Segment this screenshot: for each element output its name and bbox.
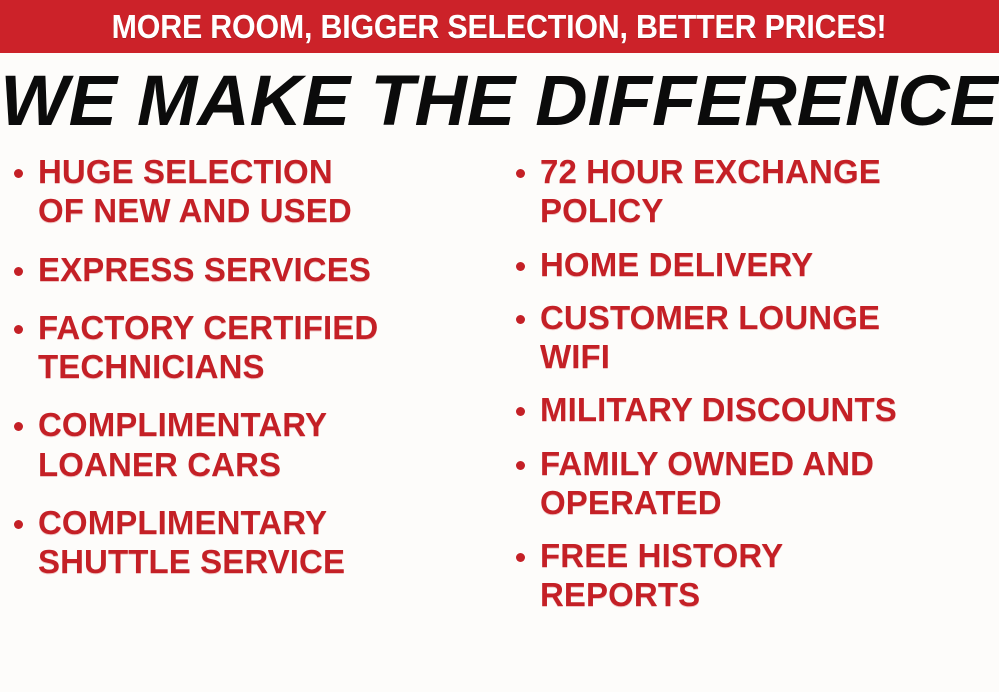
features-column-right: 72 HOUR EXCHANGE POLICY HOME DELIVERY CU… [516, 152, 999, 629]
list-item: EXPRESS SERVICES [14, 250, 506, 289]
list-item-label: COMPLIMENTARY LOANER CARS [38, 405, 327, 484]
bullet-dot-icon [516, 461, 525, 470]
list-item: CUSTOMER LOUNGE WIFI [516, 298, 999, 377]
list-item-label: FAMILY OWNED AND OPERATED [540, 444, 874, 523]
list-item-label: CUSTOMER LOUNGE WIFI [540, 298, 880, 377]
bullet-dot-icon [14, 325, 23, 334]
bullet-dot-icon [516, 169, 525, 178]
features-column-left: HUGE SELECTION OF NEW AND USED EXPRESS S… [14, 152, 506, 600]
list-item: FREE HISTORY REPORTS [516, 536, 999, 615]
bullet-dot-icon [516, 315, 525, 324]
list-item-label: 72 HOUR EXCHANGE POLICY [540, 152, 881, 231]
list-item-label: FACTORY CERTIFIED TECHNICIANS [38, 308, 378, 387]
bullet-dot-icon [14, 169, 23, 178]
list-item: FAMILY OWNED AND OPERATED [516, 444, 999, 523]
list-item-label: COMPLIMENTARY SHUTTLE SERVICE [38, 503, 345, 582]
list-item: MILITARY DISCOUNTS [516, 390, 999, 429]
top-promo-banner: MORE ROOM, BIGGER SELECTION, BETTER PRIC… [0, 0, 999, 53]
list-item-label: HOME DELIVERY [540, 245, 813, 284]
features-columns: HUGE SELECTION OF NEW AND USED EXPRESS S… [0, 152, 999, 692]
list-item-label: MILITARY DISCOUNTS [540, 390, 897, 429]
top-promo-banner-text: MORE ROOM, BIGGER SELECTION, BETTER PRIC… [112, 10, 887, 43]
bullet-dot-icon [516, 407, 525, 416]
bullet-dot-icon [516, 262, 525, 271]
list-item: COMPLIMENTARY LOANER CARS [14, 405, 506, 484]
list-item: HUGE SELECTION OF NEW AND USED [14, 152, 506, 231]
bullet-dot-icon [14, 422, 23, 431]
list-item: HOME DELIVERY [516, 245, 999, 284]
list-item: FACTORY CERTIFIED TECHNICIANS [14, 308, 506, 387]
advertisement-banner: MORE ROOM, BIGGER SELECTION, BETTER PRIC… [0, 0, 999, 692]
bullet-dot-icon [516, 553, 525, 562]
list-item-label: HUGE SELECTION OF NEW AND USED [38, 152, 352, 231]
headline-container: WE MAKE THE DIFFERENCE [0, 62, 999, 140]
list-item-label: FREE HISTORY REPORTS [540, 536, 783, 615]
bullet-dot-icon [14, 267, 23, 276]
page-title: WE MAKE THE DIFFERENCE [1, 66, 999, 137]
bullet-dot-icon [14, 520, 23, 529]
list-item: COMPLIMENTARY SHUTTLE SERVICE [14, 503, 506, 582]
list-item: 72 HOUR EXCHANGE POLICY [516, 152, 999, 231]
list-item-label: EXPRESS SERVICES [38, 250, 371, 289]
